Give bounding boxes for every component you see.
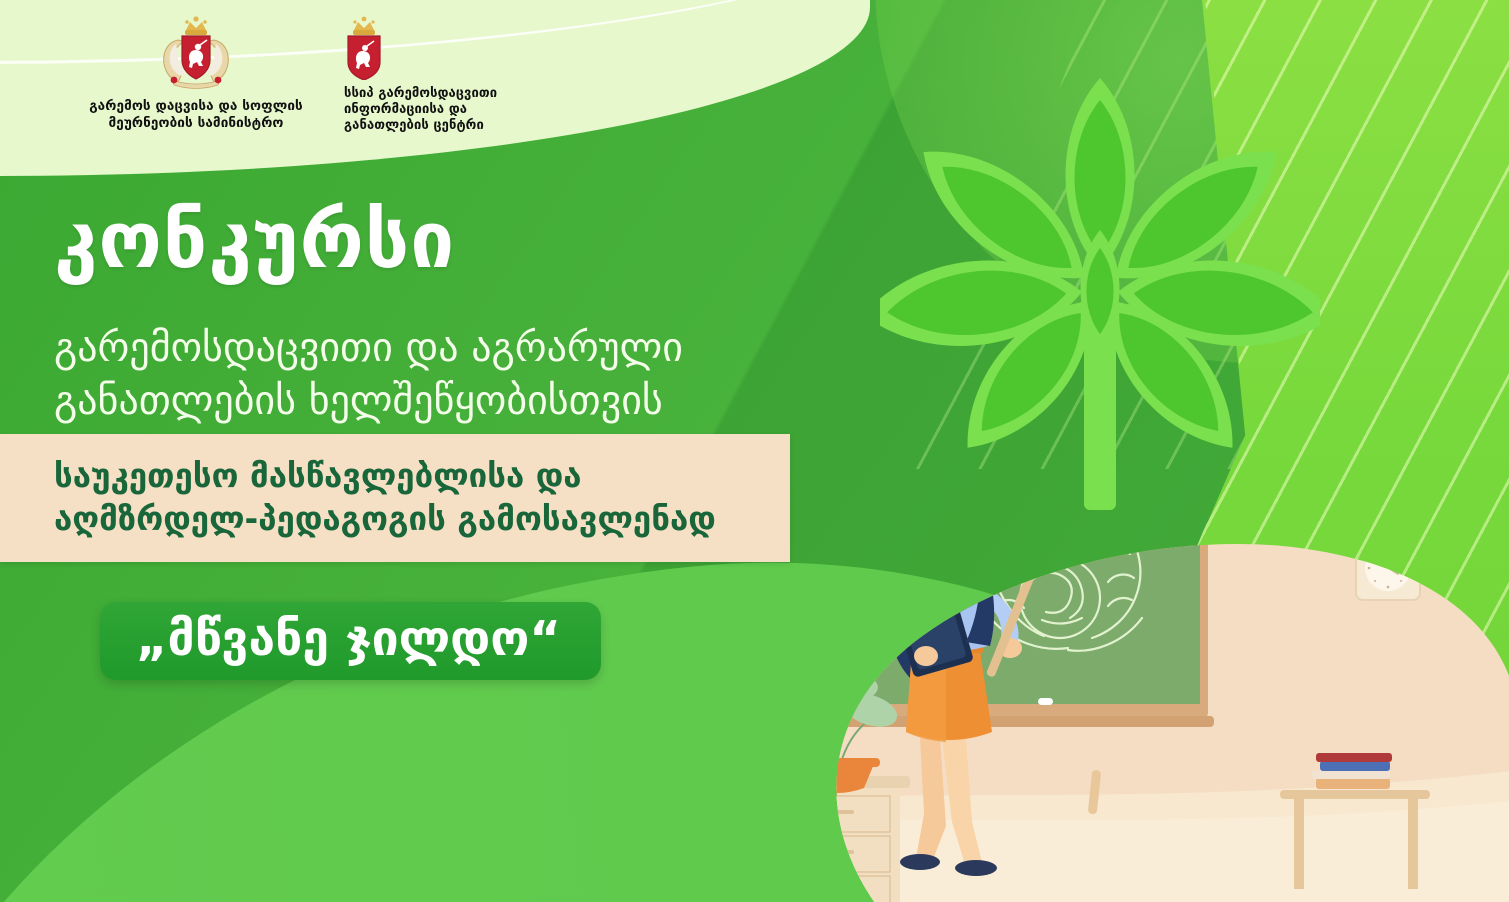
highlight-banner-line-1: საუკეთესო მასწავლებლისა და: [54, 455, 776, 498]
logo-ministry-label: გარემოს დაცვისა და სოფლის მეურნეობის სამ…: [46, 98, 346, 131]
cabinet: [766, 776, 910, 902]
highlight-banner: საუკეთესო მასწავლებლისა და აღმზრდელ-პედა…: [0, 434, 790, 562]
award-badge: „მწვანე ჯილდო“: [100, 602, 601, 680]
stylized-tree-icon: [880, 0, 1320, 510]
logo-eiec-label-line-2: ინფორმაციისა და: [344, 102, 614, 118]
page-subtitle-line-2: განათლების ხელშეწყობისთვის: [54, 375, 834, 428]
logo-eiec-label: სსიპ გარემოსდაცვითი ინფორმაციისა და განა…: [334, 86, 614, 134]
logo-eiec-label-line-1: სსიპ გარემოსდაცვითი: [344, 86, 614, 102]
logo-ministry-label-line-1: გარემოს დაცვისა და სოფლის: [46, 98, 346, 115]
logo-eiec: სსიპ გარემოსდაცვითი ინფორმაციისა და განა…: [334, 16, 614, 134]
chalk-piece: [1038, 698, 1053, 705]
classroom-teacher-illustration: [760, 470, 1509, 902]
poster-canvas: გარემოს დაცვისა და სოფლის მეურნეობის სამ…: [0, 0, 1509, 902]
page-subtitle-line-1: გარემოსდაცვითი და აგრარული: [54, 322, 834, 375]
page-title: კონკურსი: [54, 202, 455, 280]
teacher-shoe-front: [955, 860, 997, 876]
highlight-banner-line-2: აღმზრდელ-პედაგოგის გამოსავლენად: [54, 498, 776, 541]
award-badge-label: „მწვანე ჯილდო“: [136, 614, 561, 664]
header-logos: გარემოს დაცვისა და სოფლის მეურნეობის სამ…: [0, 0, 640, 160]
logo-ministry-label-line-2: მეურნეობის სამინისტრო: [46, 115, 346, 132]
teacher-shoe-back: [900, 854, 940, 870]
georgia-small-crest-icon: [340, 16, 388, 80]
wall-clock: [1356, 536, 1420, 600]
logo-eiec-label-line-3: განათლების ცენტრი: [344, 118, 614, 134]
logo-ministry: გარემოს დაცვისა და სოფლის მეურნეობის სამ…: [46, 14, 346, 131]
book-stack: [1312, 753, 1392, 789]
teacher-head: [924, 500, 984, 576]
georgia-coat-of-arms-icon: [156, 14, 236, 92]
page-subtitle: გარემოსდაცვითი და აგრარული განათლების ხე…: [54, 322, 834, 428]
chalkboard: [834, 506, 1214, 727]
